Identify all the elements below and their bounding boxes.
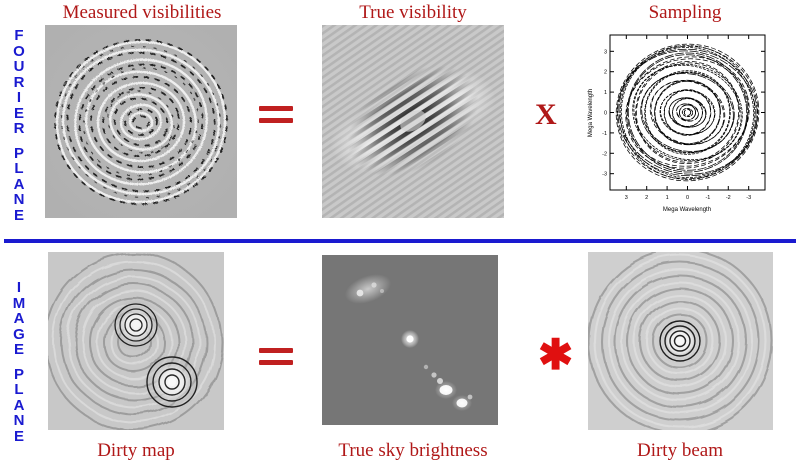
plane-label-letter: L <box>2 382 36 398</box>
panel-title-sampling: Sampling <box>600 2 770 24</box>
plane-label-fourier-word1: FOURIER <box>2 28 36 137</box>
operator-equals-fourier <box>259 106 293 126</box>
plane-label-letter: O <box>2 44 36 60</box>
uv-xtick-label: 2 <box>645 195 648 201</box>
panel-title-true-visibility: True visibility <box>318 2 508 24</box>
section-divider <box>4 239 796 243</box>
plane-label-letter: A <box>2 177 36 193</box>
panel-true-sky-brightness <box>322 255 498 425</box>
plane-label-letter: N <box>2 192 36 208</box>
operator-convolution: ✱ <box>538 340 573 370</box>
dirty-map-source-1 <box>110 299 162 351</box>
plane-label-image-word2: PLANE <box>2 367 36 445</box>
plane-label-fourier-word2: PLANE <box>2 146 36 224</box>
panel-dirty-map <box>48 252 224 430</box>
panel-measured-visibilities <box>45 25 237 218</box>
panel-caption-dirty-beam: Dirty beam <box>595 440 765 462</box>
uv-xtick-label: 3 <box>625 195 628 201</box>
plane-label-letter: A <box>2 311 36 327</box>
plane-label-letter: E <box>2 106 36 122</box>
operator-multiply: X <box>535 100 557 130</box>
uv-ytick-label: 1 <box>604 90 607 96</box>
panel-sampling-uv-plot: 3210-1-2-33210-1-2-3 Mega Wavelength Meg… <box>580 25 780 220</box>
panel-true-visibility <box>322 25 504 218</box>
plane-label-letter: F <box>2 28 36 44</box>
plane-label-letter: E <box>2 208 36 224</box>
plane-label-fourier: FOURIER PLANE <box>2 28 36 223</box>
plane-label-letter: I <box>2 90 36 106</box>
plane-label-letter: N <box>2 413 36 429</box>
uv-xtick-label: 1 <box>666 195 669 201</box>
uv-ytick-label: -3 <box>602 172 607 178</box>
plane-label-letter: G <box>2 327 36 343</box>
uv-xtick-label: -1 <box>705 195 710 201</box>
uv-yaxis-label: Mega Wavelength <box>588 89 594 137</box>
plane-label-letter: U <box>2 59 36 75</box>
uv-ytick-label: 0 <box>604 111 607 117</box>
uv-ytick-label: 3 <box>604 49 607 55</box>
uv-ytick-label: -1 <box>602 131 607 137</box>
panel-dirty-beam <box>588 252 773 430</box>
figure-canvas: FOURIER PLANE Measured visibilities <box>0 0 800 468</box>
panel-title-measured-visibilities: Measured visibilities <box>38 2 246 24</box>
plane-label-letter: E <box>2 342 36 358</box>
uv-ytick-label: 2 <box>604 70 607 76</box>
uv-xtick-label: 0 <box>686 195 689 201</box>
dirty-map-source-2 <box>144 354 200 410</box>
uv-ytick-label: -2 <box>602 151 607 157</box>
plane-label-letter: L <box>2 161 36 177</box>
uv-xtick-label: -2 <box>726 195 731 201</box>
panel-caption-dirty-map: Dirty map <box>46 440 226 462</box>
uv-xtick-label: -3 <box>746 195 751 201</box>
plane-label-image: IMAGE PLANE <box>2 280 36 444</box>
uv-coverage-svg: 3210-1-2-33210-1-2-3 Mega Wavelength Meg… <box>580 25 780 220</box>
dirty-beam-center <box>656 317 704 365</box>
plane-label-letter: E <box>2 429 36 445</box>
plane-label-letter: P <box>2 367 36 383</box>
plane-label-letter: R <box>2 75 36 91</box>
uv-xaxis-label: Mega Wavelength <box>663 207 711 213</box>
plane-label-letter: I <box>2 280 36 296</box>
plane-label-letter: M <box>2 296 36 312</box>
plane-label-letter: A <box>2 398 36 414</box>
sky-core <box>401 330 419 348</box>
panel-caption-true-sky-brightness: True sky brightness <box>315 440 511 462</box>
plane-label-image-word1: IMAGE <box>2 280 36 358</box>
plane-label-letter: R <box>2 121 36 137</box>
plane-label-letter: P <box>2 146 36 162</box>
operator-equals-image <box>259 348 293 368</box>
